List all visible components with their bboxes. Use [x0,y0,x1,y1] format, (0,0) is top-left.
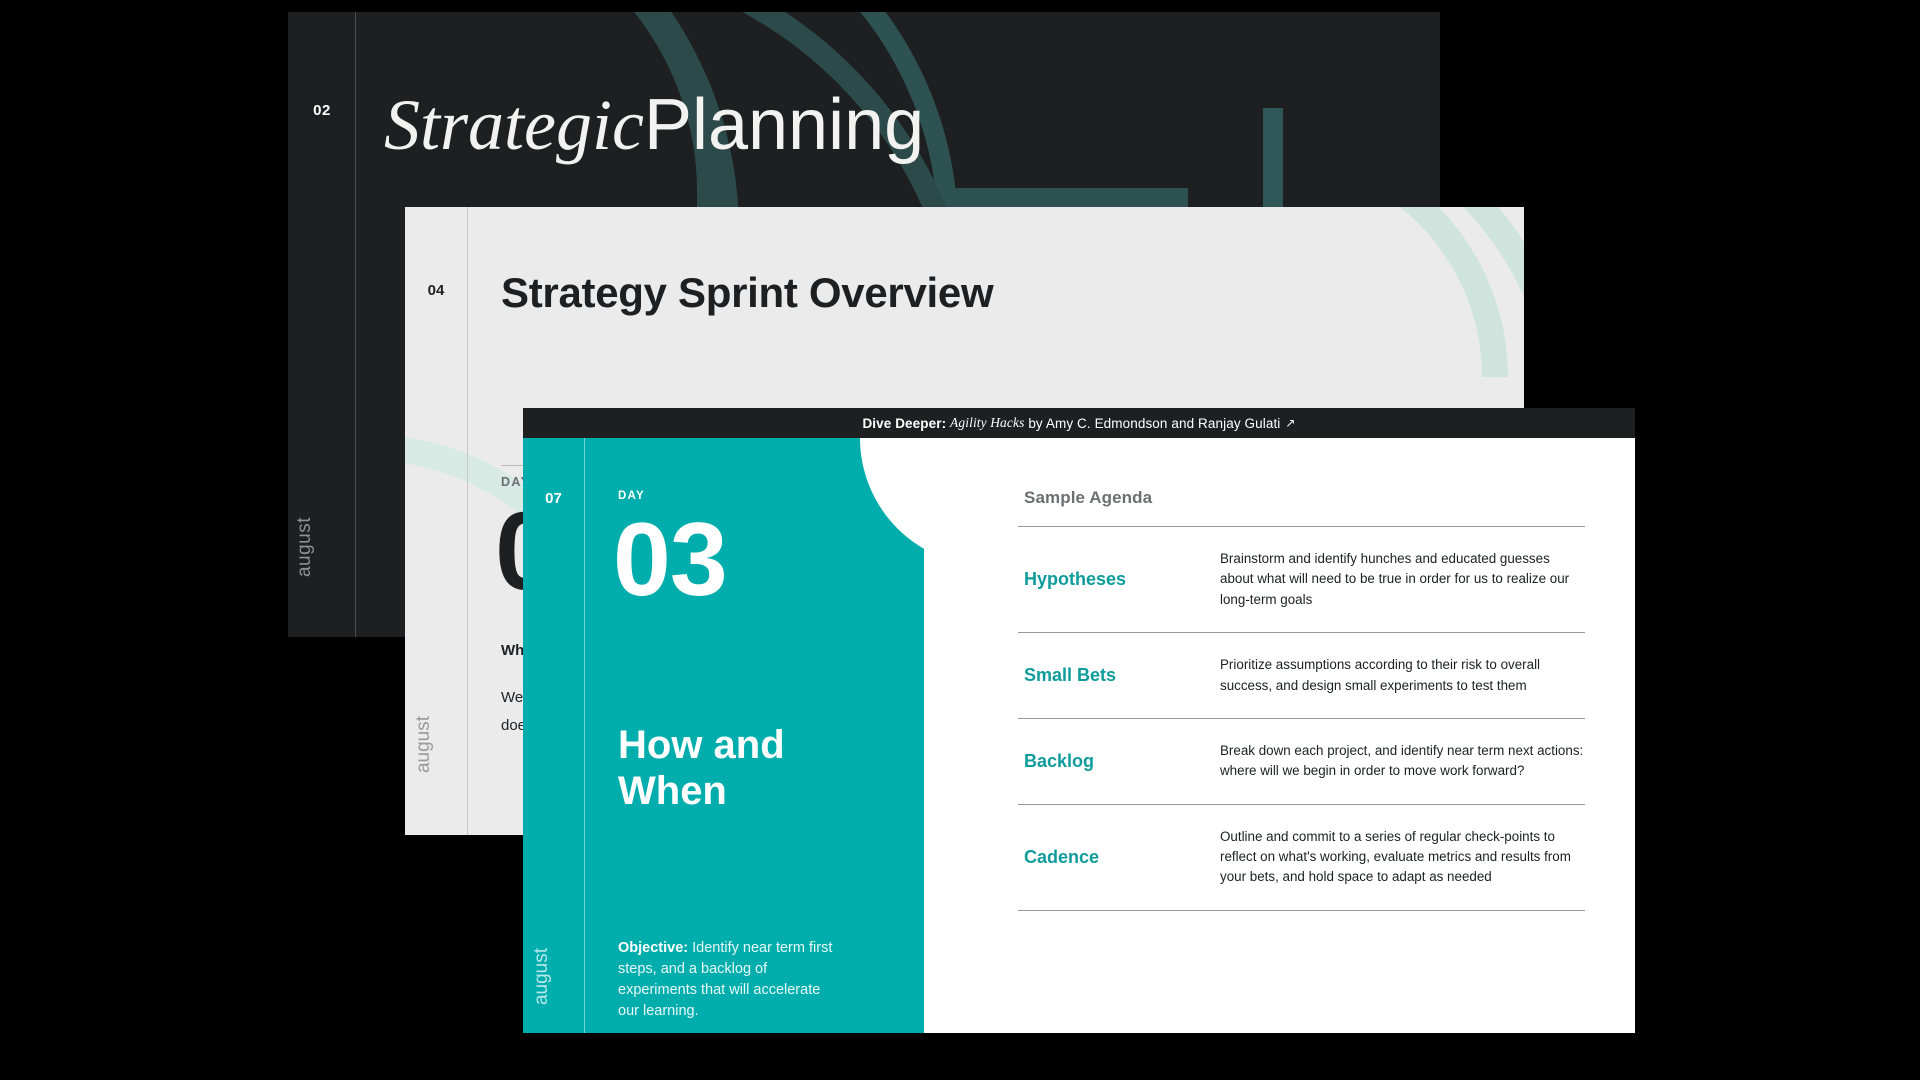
banner-byline: by Amy C. Edmondson and Ranjay Gulati [1028,416,1280,431]
day-number: 03 [613,508,727,612]
teal-panel: 07 august DAY 03 How and When Objective:… [523,438,924,1033]
slide-spine [584,438,585,1033]
agenda-row[interactable]: Backlog Break down each project, and ide… [1018,718,1585,804]
objective-label: Objective: [618,940,688,956]
slide-number: 07 [523,490,584,507]
agenda-row-description: Outline and commit to a series of regula… [1220,827,1585,888]
slide-how-and-when[interactable]: Dive Deeper: Agility Hacks by Amy C. Edm… [523,408,1635,1033]
slide-spine [467,207,468,835]
page-title-roman: Planning [644,85,924,165]
external-link-icon[interactable]: ↗ [1285,416,1295,430]
agenda-row-description: Prioritize assumptions according to thei… [1220,655,1585,696]
brand-logo-august: august [413,716,461,773]
agenda-row[interactable]: Hypotheses Brainstorm and identify hunch… [1018,526,1585,632]
slide-number: 04 [405,282,467,299]
agenda-row-description: Break down each project, and identify ne… [1220,741,1585,782]
agenda-row[interactable]: Small Bets Prioritize assumptions accord… [1018,632,1585,718]
agenda-section: Sample Agenda Hypotheses Brainstorm and … [1018,438,1635,1033]
dive-deeper-banner[interactable]: Dive Deeper: Agility Hacks by Amy C. Edm… [523,408,1635,438]
page-title: How and When [618,723,878,814]
day-label: DAY [618,490,645,502]
page-title-italic: Strategic [384,85,644,165]
agenda-row-label: Small Bets [1024,665,1220,686]
objective-text: Objective: Identify near term first step… [618,938,833,1022]
page-title: StrategicPlanning [384,84,1400,167]
brand-logo-august: august [531,948,577,1005]
slide-deck-stage: 02 august StrategicPlanning Good strateg… [0,0,1920,1080]
agenda-heading: Sample Agenda [1024,488,1152,508]
slide-number: 02 [288,102,356,119]
banner-prefix: Dive Deeper: [862,416,946,431]
corner-curve-decoration [860,438,988,566]
agenda-row-label: Hypotheses [1024,569,1220,590]
brand-logo-august: august [294,517,350,577]
page-title: Strategy Sprint Overview [501,269,993,317]
banner-work-title: Agility Hacks [950,415,1024,431]
agenda-list: Hypotheses Brainstorm and identify hunch… [1018,526,1585,911]
agenda-row-label: Cadence [1024,847,1220,868]
agenda-row-label: Backlog [1024,751,1220,772]
agenda-row[interactable]: Cadence Outline and commit to a series o… [1018,804,1585,911]
agenda-row-description: Brainstorm and identify hunches and educ… [1220,549,1585,610]
